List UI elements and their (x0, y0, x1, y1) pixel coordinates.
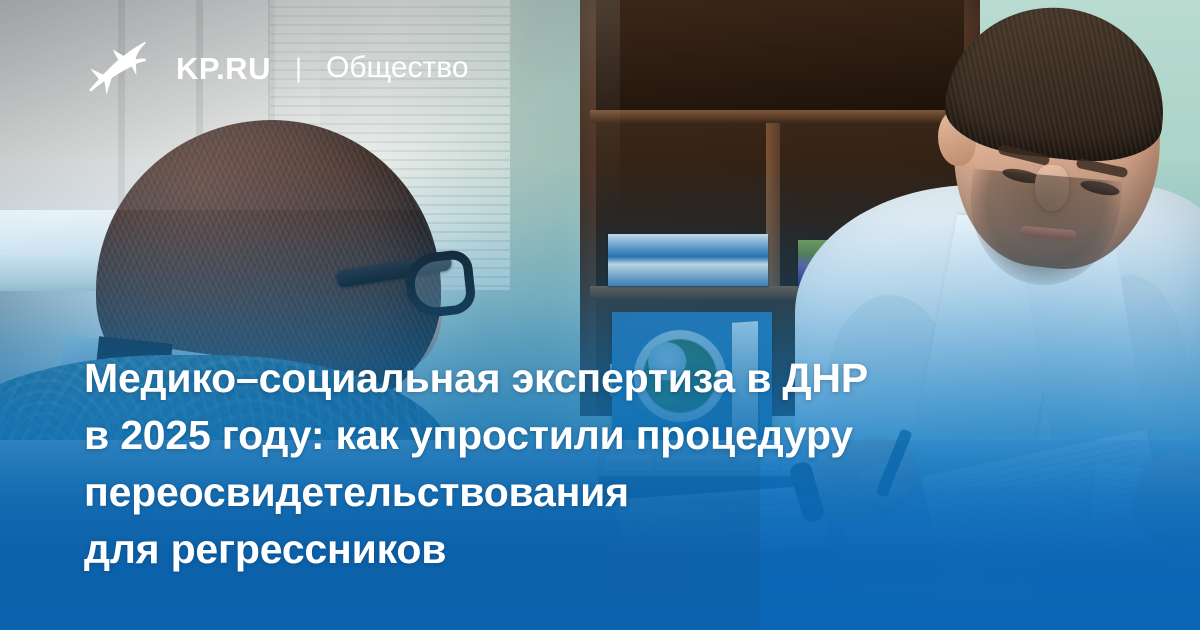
headline-line-1: Медико–социальная экспертиза в ДНР (84, 350, 1094, 407)
shelf-board (590, 110, 970, 123)
rubric-label[interactable]: Общество (326, 53, 469, 83)
headline-line-4: для регрессников (84, 521, 1094, 578)
headline-line-3: переосвидетельствования (84, 464, 1094, 521)
article-headline: Медико–социальная экспертиза в ДНР в 202… (84, 350, 1094, 578)
brand-separator: | (295, 55, 302, 82)
swallow-bird-icon (88, 40, 146, 96)
shelf-compartment (596, 0, 964, 110)
brand-name[interactable]: KP.RU (176, 53, 271, 84)
header-scrim (0, 0, 620, 210)
social-share-card: KP.RU | Общество Медико–социальная экспе… (0, 0, 1200, 630)
brand-header: KP.RU | Общество (88, 40, 469, 96)
headline-line-2: в 2025 году: как упростили процедуру (84, 407, 1094, 464)
